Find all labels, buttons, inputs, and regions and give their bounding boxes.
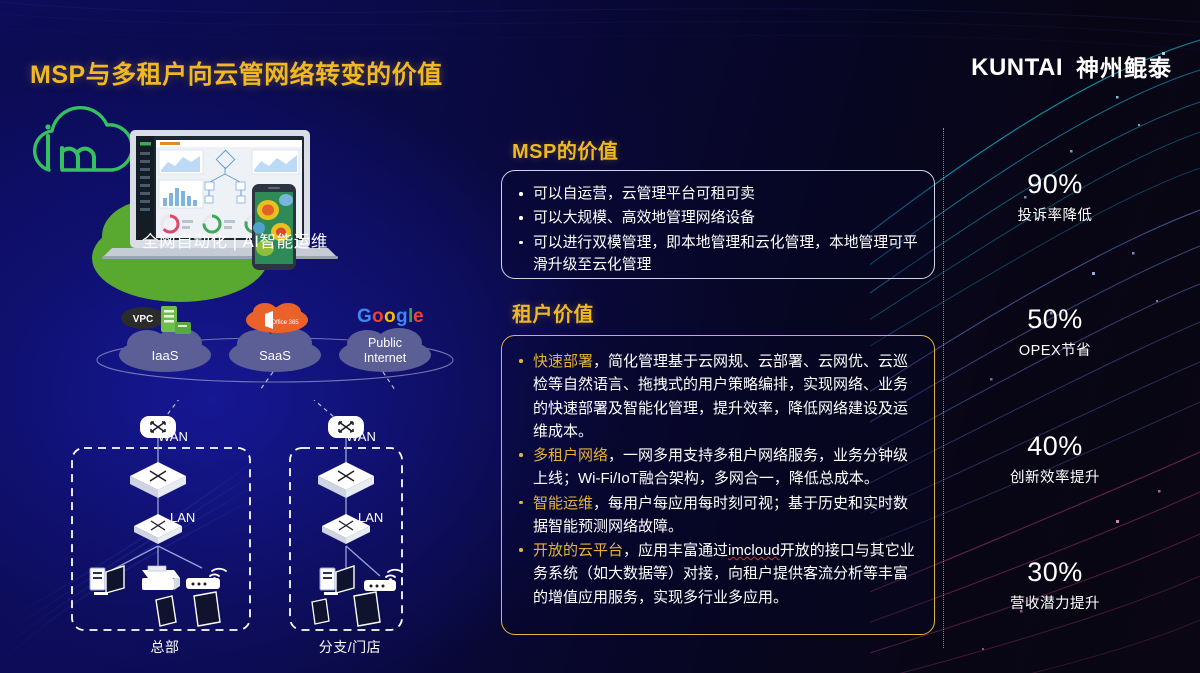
bullet-keyword: 智能运维 <box>533 495 593 512</box>
panel-tenant-value: 快速部署，简化管理基于云网规、云部署、云网优、云巡检等自然语言、拖拽式的用户策略… <box>501 335 935 635</box>
svg-text:e: e <box>413 306 424 327</box>
bullet-item: 可以进行双模管理，即本地管理和云化管理，本地管理可平滑升级至云化管理 <box>516 232 920 277</box>
slide-canvas: MSP与多租户向云管网络转变的价值 KUNTAI 神州鲲泰 <box>0 0 1200 673</box>
brand-logo: KUNTAI 神州鲲泰 <box>971 56 1172 80</box>
cloud-label-public: Public <box>368 336 402 350</box>
section-heading-msp: MSP的价值 <box>512 135 618 164</box>
network-topology-diagram: WAN LAN <box>50 400 470 665</box>
panel-msp-value: 可以自运营，云管理平台可租可卖可以大规模、高效地管理网络设备可以进行双模管理，即… <box>501 170 935 279</box>
bullet-text: 可以进行双模管理，即本地管理和云化管理，本地管理可平滑升级至云化管理 <box>533 235 918 273</box>
cloud-services-row: VPC Office 365 G o o <box>95 300 455 390</box>
svg-text:o: o <box>384 306 396 327</box>
hero-illustration <box>0 100 470 310</box>
google-logo-icon: G o o g l e <box>357 306 424 327</box>
bullet-item: 可以大规模、高效地管理网络设备 <box>516 207 920 229</box>
svg-text:VPC: VPC <box>133 314 154 325</box>
bullet-keyword: 多租户网络 <box>533 447 608 464</box>
cloud-label-internet: Internet <box>364 351 407 365</box>
bullet-item: 可以自运营，云管理平台可租可卖 <box>516 183 920 205</box>
hq-wireless-ap-icon <box>186 569 226 589</box>
phone-device <box>252 184 296 270</box>
vpc-badge-icon: VPC <box>121 307 165 329</box>
stats-divider <box>943 128 944 648</box>
page-title: MSP与多租户向云管网络转变的价值 <box>30 55 443 91</box>
stat-label: OPEX节省 <box>955 339 1155 360</box>
bullet-keyword: 快速部署 <box>533 353 593 370</box>
bullet-text: imcloud <box>728 542 780 559</box>
bullet-item: 开放的云平台，应用丰富通过imcloud开放的接口与其它业务系统（如大数据等）对… <box>516 539 920 609</box>
stat-number: 30% <box>955 558 1155 588</box>
stat-number: 50% <box>955 305 1155 335</box>
bullet-text: 可以大规模、高效地管理网络设备 <box>533 210 755 226</box>
tenant-bullet-list: 快速部署，简化管理基于云网规、云部署、云网优、云巡检等自然语言、拖拽式的用户策略… <box>502 336 934 620</box>
bullet-text: ，应用丰富通过 <box>623 542 728 559</box>
stat-item-0: 90% 投诉率降低 <box>955 170 1155 225</box>
stat-item-1: 50% OPEX节省 <box>955 305 1155 360</box>
svg-text:G: G <box>357 306 372 327</box>
hq-lan-label: LAN <box>170 510 195 525</box>
stat-number: 40% <box>955 432 1155 462</box>
msp-bullet-list: 可以自运营，云管理平台可租可卖可以大规模、高效地管理网络设备可以进行双模管理，即… <box>502 171 934 289</box>
hq-desktop-icon <box>90 566 124 595</box>
branch-desktop-icon <box>320 566 354 595</box>
bullet-item: 智能运维，每用户每应用每时刻可视；基于历史和实时数据智能预测网络故障。 <box>516 492 920 539</box>
server-icon <box>161 306 191 334</box>
svg-text:Office 365: Office 365 <box>271 320 299 326</box>
site-hq: WAN LAN <box>72 416 250 630</box>
branch-core-switch-icon <box>318 462 374 498</box>
logo-cn-text: 神州鲲泰 <box>1076 57 1172 80</box>
bullet-item: 快速部署，简化管理基于云网规、云部署、云网优、云巡检等自然语言、拖拽式的用户策略… <box>516 350 920 443</box>
hq-core-switch-icon <box>130 462 186 498</box>
section-heading-tenant: 租户价值 <box>512 298 594 327</box>
bullet-keyword: 开放的云平台 <box>533 542 623 559</box>
bullet-item: 多租户网络，一网多用支持多租户网络服务，业务分钟级上线；Wi-Fi/IoT融合架… <box>516 444 920 491</box>
hero-caption: 全网自动化 | AI智能运维 <box>0 228 470 252</box>
cloud-label-iaas: IaaS <box>152 348 179 363</box>
branch-lan-label: LAN <box>358 510 383 525</box>
stat-label: 创新效率提升 <box>955 466 1155 487</box>
cloud-label-saas: SaaS <box>259 348 291 363</box>
hq-wan-label: WAN <box>158 429 188 444</box>
branch-wireless-ap-icon <box>364 570 402 591</box>
branch-wan-label: WAN <box>346 429 376 444</box>
svg-text:g: g <box>396 306 408 327</box>
stat-number: 90% <box>955 170 1155 200</box>
hq-tablet-icons <box>156 592 220 626</box>
logo-en-text: KUNTAI <box>971 56 1063 80</box>
site-caption-branch: 分支/门店 <box>290 637 410 657</box>
branch-tablet-icons <box>312 592 380 626</box>
hq-printer-icon <box>142 566 180 590</box>
site-branch: WAN LAN <box>290 416 402 630</box>
svg-text:o: o <box>372 306 384 327</box>
stat-label: 投诉率降低 <box>955 204 1155 225</box>
stat-item-3: 30% 营收潜力提升 <box>955 558 1155 613</box>
stat-item-2: 40% 创新效率提升 <box>955 432 1155 487</box>
cloud-public-internet <box>339 328 431 372</box>
stat-label: 营收潜力提升 <box>955 592 1155 613</box>
bullet-text: 可以自运营，云管理平台可租可卖 <box>533 186 755 202</box>
office365-badge-icon: Office 365 <box>246 303 308 333</box>
site-caption-hq: 总部 <box>105 637 225 657</box>
